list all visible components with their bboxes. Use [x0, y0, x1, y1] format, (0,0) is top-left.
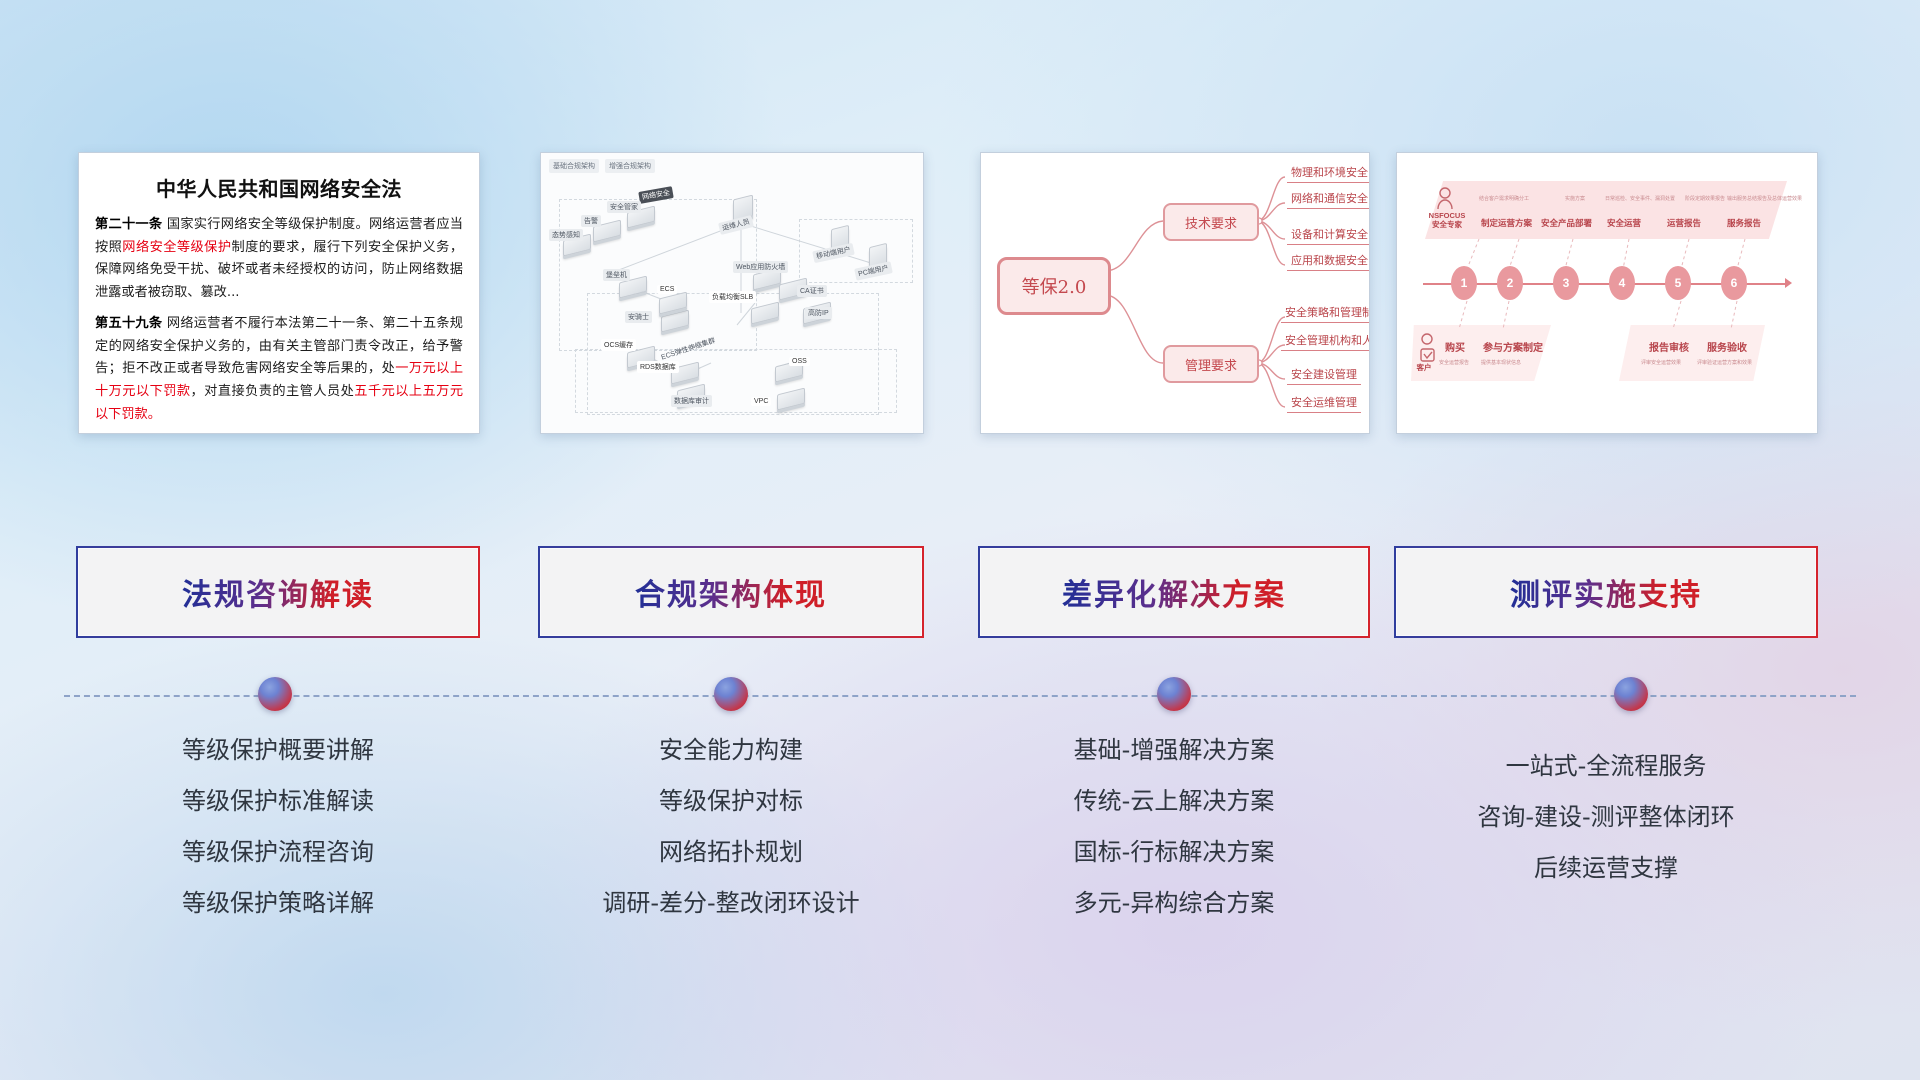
detail-item: 等级保护对标	[540, 789, 922, 813]
detail-item: 等级保护概要讲解	[78, 738, 478, 762]
step-marker[interactable]: 5	[1665, 266, 1691, 300]
bottom-step-sub: 提供基本现状信息	[1481, 359, 1521, 366]
detail-item: 等级保护标准解读	[78, 789, 478, 813]
law-title: 中华人民共和国网络安全法	[95, 173, 463, 202]
step-title: 安全产品部署	[1541, 217, 1592, 229]
article-21-label: 第二十一条	[95, 217, 162, 232]
label-box-text: 法规咨询解读	[182, 570, 374, 614]
timeline-dashed-line	[64, 695, 1856, 701]
bottom-step-sub: 安全运营报告	[1439, 359, 1469, 366]
bottom-step-sub: 评审安全运营效果	[1641, 359, 1681, 366]
step-sub: 输出服务总结报告及总体运营效果	[1727, 195, 1802, 202]
mindmap-canvas: 等保2.0 技术要求 管理要求 物理和环境安全 网络和通信安全 设备和计算安全 …	[981, 153, 1369, 433]
customer-label: 客户	[1407, 363, 1441, 372]
detail-column-1: 等级保护概要讲解 等级保护标准解读 等级保护流程咨询 等级保护策略详解	[78, 738, 478, 942]
detail-column-2: 安全能力构建 等级保护对标 网络拓扑规划 调研-差分-整改闭环设计	[540, 738, 922, 942]
step-title: 安全运营	[1607, 217, 1641, 229]
detail-item: 基础-增强解决方案	[980, 738, 1368, 762]
label-alert: 告警	[581, 215, 601, 227]
label-box-evaluation-support[interactable]: 测评实施支持	[1396, 548, 1816, 636]
step-marker[interactable]: 2	[1497, 266, 1523, 300]
step-marker[interactable]: 3	[1553, 266, 1579, 300]
step-sub: 实施方案	[1565, 195, 1585, 202]
detail-column-3: 基础-增强解决方案 传统-云上解决方案 国标-行标解决方案 多元-异构综合方案	[980, 738, 1368, 942]
detail-item: 多元-异构综合方案	[980, 891, 1368, 915]
slide-canvas: 中华人民共和国网络安全法 第二十一条 国家实行网络安全等级保护制度。网络运营者应…	[0, 0, 1920, 1080]
mindmap-leaf[interactable]: 应用和数据安全	[1287, 252, 1370, 271]
label-box-differentiated-solution[interactable]: 差异化解决方案	[980, 548, 1368, 636]
detail-item: 等级保护策略详解	[78, 891, 478, 915]
mindmap-node-technical[interactable]: 技术要求	[1163, 203, 1259, 241]
detail-item: 后续运营支撑	[1396, 856, 1816, 880]
law-document: 中华人民共和国网络安全法 第二十一条 国家实行网络安全等级保护制度。网络运营者应…	[79, 153, 479, 433]
mindmap-leaf[interactable]: 安全管理机构和人员	[1281, 332, 1370, 351]
article-59-label: 第五十九条	[95, 316, 162, 331]
architecture-canvas: 基础合规架构 增强合规架构 网络安全 态势感知	[541, 153, 923, 433]
step-title: 运营报告	[1667, 217, 1701, 229]
detail-item: 传统-云上解决方案	[980, 789, 1368, 813]
label-bastion-host: 堡垒机	[603, 269, 630, 281]
bottom-step-title: 服务验收	[1707, 339, 1747, 354]
article-59-text-2: ，对直接负责的主管人员处	[191, 384, 355, 399]
step-sub: 日常巡检、安全事件、漏洞处置	[1605, 195, 1675, 202]
bottom-step-title: 报告审核	[1649, 339, 1689, 354]
mindmap-leaf[interactable]: 安全策略和管理制度	[1281, 304, 1370, 323]
law-article-21: 第二十一条 国家实行网络安全等级保护制度。网络运营者应当按照网络安全等级保护制度…	[95, 214, 463, 305]
label-oss: OSS	[789, 357, 810, 366]
bottom-step-sub: 评审验证运营方案和效果	[1697, 359, 1752, 366]
card-nsfocus-timeline: NSFOCUS 安全专家 客户 结合客户需求明确分工 实施方案 日常巡检、安全事…	[1396, 152, 1818, 434]
label-box-text: 差异化解决方案	[1062, 570, 1286, 614]
label-box-row: 法规咨询解读 合规架构体现 差异化解决方案 测评实施支持	[0, 548, 1920, 636]
bottom-step-title: 参与方案制定	[1483, 339, 1543, 354]
expert-label-line1: NSFOCUS	[1419, 211, 1475, 220]
label-situational-awareness: 态势感知	[549, 229, 583, 241]
expert-label: NSFOCUS 安全专家	[1419, 211, 1475, 230]
step-sub: 结合客户需求明确分工	[1479, 195, 1529, 202]
label-box-text: 测评实施支持	[1510, 570, 1702, 614]
label-rds-database: RDS数据库	[637, 361, 679, 373]
label-ecs: ECS	[657, 285, 677, 294]
step-marker[interactable]: 6	[1721, 266, 1747, 300]
bottom-step-title: 购买	[1445, 339, 1465, 354]
mindmap-leaf[interactable]: 网络和通信安全	[1287, 190, 1370, 209]
label-anti-ddos-ip: 高防IP	[805, 307, 832, 319]
article-21-highlight: 网络安全等级保护	[122, 240, 231, 255]
card-law-text: 中华人民共和国网络安全法 第二十一条 国家实行网络安全等级保护制度。网络运营者应…	[78, 152, 480, 434]
detail-item: 安全能力构建	[540, 738, 922, 762]
label-box-compliance-architecture[interactable]: 合规架构体现	[540, 548, 922, 636]
timeline-dot[interactable]	[258, 677, 292, 711]
step-title: 制定运营方案	[1481, 217, 1532, 229]
label-box-text: 合规架构体现	[635, 570, 827, 614]
timeline-dot[interactable]	[714, 677, 748, 711]
detail-item: 咨询-建设-测评整体闭环	[1396, 805, 1816, 829]
timeline-dot[interactable]	[1614, 677, 1648, 711]
nsfocus-canvas: NSFOCUS 安全专家 客户 结合客户需求明确分工 实施方案 日常巡检、安全事…	[1397, 153, 1817, 433]
label-anqishi: 安骑士	[625, 311, 652, 323]
label-database-audit: 数据库审计	[671, 395, 712, 407]
step-marker[interactable]: 1	[1451, 266, 1477, 300]
mindmap-leaf[interactable]: 物理和环境安全	[1287, 164, 1370, 183]
law-article-59: 第五十九条 网络运营者不履行本法第二十一条、第二十五条规定的网络安全保护义务的，…	[95, 313, 463, 427]
detail-item: 国标-行标解决方案	[980, 840, 1368, 864]
label-ca-certificate: CA证书	[797, 285, 827, 297]
mindmap-node-management[interactable]: 管理要求	[1163, 345, 1259, 383]
label-security-steward: 安全管家	[607, 201, 641, 213]
detail-item: 等级保护流程咨询	[78, 840, 478, 864]
card-architecture-diagram: 基础合规架构 增强合规架构 网络安全 态势感知	[540, 152, 924, 434]
mindmap-leaf[interactable]: 安全运维管理	[1287, 394, 1361, 413]
label-waf: Web应用防火墙	[733, 261, 788, 273]
detail-item: 一站式-全流程服务	[1396, 754, 1816, 778]
label-vpc: VPC	[751, 397, 771, 406]
step-marker[interactable]: 4	[1609, 266, 1635, 300]
timeline-arrow-icon	[1785, 278, 1792, 288]
detail-item: 网络拓扑规划	[540, 840, 922, 864]
detail-column-4: 一站式-全流程服务 咨询-建设-测评整体闭环 后续运营支撑	[1396, 754, 1816, 907]
mindmap-leaf[interactable]: 设备和计算安全	[1287, 226, 1370, 245]
mindmap-leaf[interactable]: 安全建设管理	[1287, 366, 1361, 385]
detail-item: 调研-差分-整改闭环设计	[540, 891, 922, 915]
mindmap-root-node[interactable]: 等保2.0	[997, 257, 1111, 315]
label-slb: 负载均衡SLB	[709, 291, 756, 303]
label-box-regulation-consulting[interactable]: 法规咨询解读	[78, 548, 478, 636]
timeline-dot[interactable]	[1157, 677, 1191, 711]
expert-label-line2: 安全专家	[1419, 220, 1475, 229]
step-title: 服务报告	[1727, 217, 1761, 229]
step-sub: 阶段定期效果报告	[1685, 195, 1725, 202]
card-mindmap: 等保2.0 技术要求 管理要求 物理和环境安全 网络和通信安全 设备和计算安全 …	[980, 152, 1370, 434]
label-ocs-cache: OCS缓存	[601, 339, 636, 351]
